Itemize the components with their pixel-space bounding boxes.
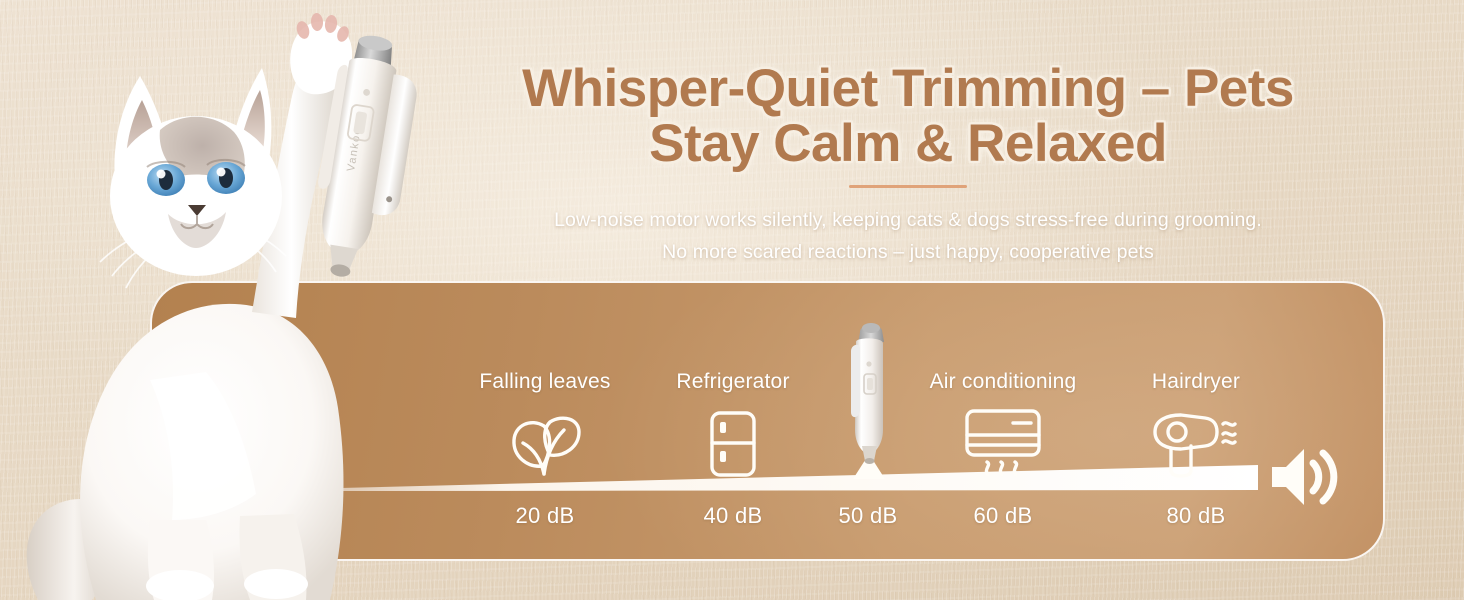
pet-nail-grinder-trimmer: Vankoo xyxy=(300,35,430,285)
scale-db-falling-leaves: 20 dB xyxy=(445,503,645,529)
headline-line-1: Whisper-Quiet Trimming – Pets xyxy=(418,62,1398,117)
headline-block: Whisper-Quiet Trimming – Pets Stay Calm … xyxy=(418,62,1398,188)
scale-db-hairdryer: 80 dB xyxy=(1096,503,1296,529)
scale-item-label: Hairdryer xyxy=(1081,370,1311,394)
scale-db-air-conditioning: 60 dB xyxy=(903,503,1103,529)
scale-item-hairdryer: Hairdryer xyxy=(1081,370,1311,480)
scale-item-label: Refrigerator xyxy=(618,370,848,394)
subtitle-line-2: No more scared reactions – just happy, c… xyxy=(418,237,1398,269)
subtitle-line-1: Low-noise motor works silently, keeping … xyxy=(418,205,1398,237)
subtitle-block: Low-noise motor works silently, keeping … xyxy=(418,205,1398,268)
hairdryer-icon xyxy=(1081,408,1311,480)
promo-banner: Falling leaves 20 dB Refrigerator xyxy=(0,0,1464,600)
scale-item-refrigerator: Refrigerator xyxy=(618,370,848,480)
headline-accent-rule xyxy=(849,185,967,188)
pet-trimmer-icon xyxy=(838,318,900,468)
headline-line-2: Stay Calm & Relaxed xyxy=(418,117,1398,172)
refrigerator-icon xyxy=(618,408,848,480)
